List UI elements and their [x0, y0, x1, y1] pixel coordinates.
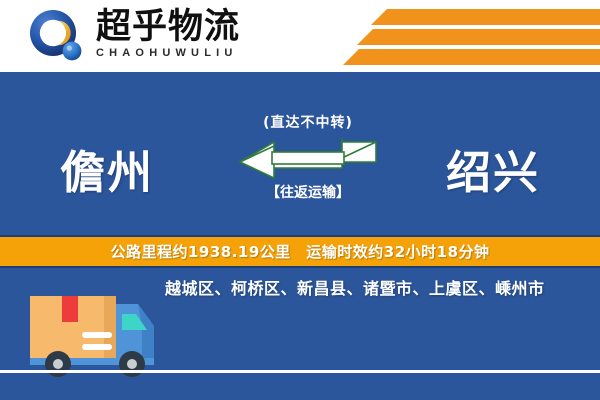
main-blue-panel: 儋州 (直达不中转) 【往返运输】 绍兴 公路里程约1938.19公里 运输时效… [0, 72, 600, 400]
coverage-district-list: 越城区、柯桥区、新昌县、诸暨市、上虞区、嵊州市 [165, 278, 585, 300]
origin-city: 儋州 [60, 136, 154, 201]
route-row: 儋州 (直达不中转) 【往返运输】 绍兴 [0, 114, 600, 224]
logistics-route-banner: 超乎物流 CHAOHUWULIU 儋州 (直达不中转) [0, 0, 600, 400]
direct-route-note: (直达不中转) [232, 114, 384, 132]
company-logo-icon [28, 9, 86, 67]
bidirectional-arrow-icon [232, 138, 384, 180]
banner-header: 超乎物流 CHAOHUWULIU [0, 0, 600, 72]
speed-stripes-icon [325, 0, 600, 72]
brand-block: 超乎物流 CHAOHUWULIU [96, 8, 266, 59]
delivery-truck-icon [18, 274, 168, 384]
route-middle-block: (直达不中转) 【往返运输】 [232, 114, 384, 224]
distance-duration-text: 公路里程约1938.19公里 运输时效约32小时18分钟 [110, 241, 489, 262]
destination-city: 绍兴 [446, 136, 540, 201]
bottom-divider [0, 370, 600, 373]
brand-name: 超乎物流 [96, 8, 266, 46]
brand-pinyin: CHAOHUWULIU [96, 47, 266, 59]
roundtrip-note: 【往返运输】 [232, 182, 384, 202]
distance-duration-bar: 公路里程约1938.19公里 运输时效约32小时18分钟 [0, 235, 600, 268]
